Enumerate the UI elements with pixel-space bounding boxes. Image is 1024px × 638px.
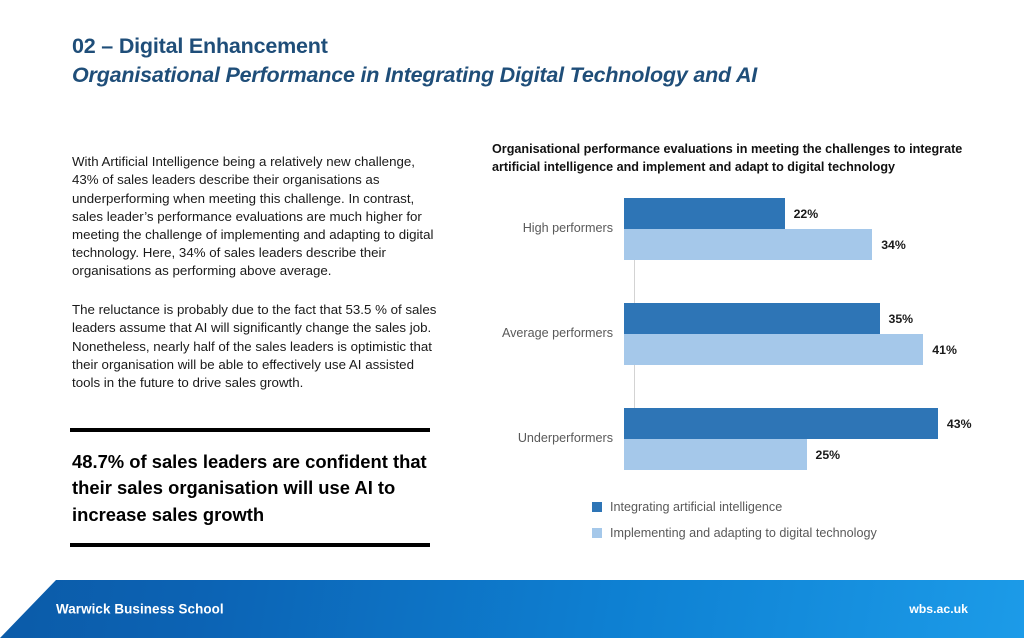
callout-block: 48.7% of sales leaders are confident tha… — [70, 428, 430, 547]
callout-text: 48.7% of sales leaders are confident tha… — [70, 432, 430, 543]
chart-title: Organisational performance evaluations i… — [492, 140, 1007, 176]
slide: 02 – Digital Enhancement Organisational … — [0, 0, 1024, 638]
legend-swatch-icon — [592, 502, 602, 512]
page-title-subtitle: Organisational Performance in Integratin… — [72, 62, 952, 90]
legend-label: Implementing and adapting to digital tec… — [610, 526, 877, 540]
bar-row-integrating-ai: 22% — [624, 198, 818, 229]
chart-group-underperformers: Underperformers 43% 25% — [492, 408, 1012, 470]
slide-footer: Warwick Business School wbs.ac.uk — [0, 580, 1024, 638]
chart-legend: Integrating artificial intelligence Impl… — [592, 494, 877, 546]
bar-series-1-cat-1[interactable] — [624, 334, 923, 365]
legend-swatch-icon — [592, 528, 602, 538]
bar-value-label: 34% — [872, 238, 906, 252]
bar-series-0-cat-1[interactable] — [624, 303, 880, 334]
bar-row-integrating-ai: 35% — [624, 303, 913, 334]
chart-block: Organisational performance evaluations i… — [492, 140, 1012, 478]
body-paragraph-1: With Artificial Intelligence being a rel… — [72, 153, 437, 280]
bar-row-digital-technology: 41% — [624, 334, 957, 365]
footer-brand: Warwick Business School — [56, 602, 224, 617]
legend-item-digital-technology[interactable]: Implementing and adapting to digital tec… — [592, 520, 877, 546]
bar-pair: 43% 25% — [624, 408, 1012, 470]
body-text-column: With Artificial Intelligence being a rel… — [72, 140, 437, 405]
chart-group-high-performers: High performers 22% 34% — [492, 198, 1012, 260]
bar-pair: 22% 34% — [624, 198, 1012, 260]
bar-value-label: 41% — [923, 343, 957, 357]
callout-rule-bottom — [70, 543, 430, 547]
category-label: Underperformers — [492, 431, 624, 446]
bar-row-digital-technology: 34% — [624, 229, 906, 260]
bar-series-1-cat-2[interactable] — [624, 439, 807, 470]
chart-plot-area: High performers 22% 34% Average performe… — [492, 198, 1012, 478]
bar-pair: 35% 41% — [624, 303, 1012, 365]
page-title-section: 02 – Digital Enhancement — [72, 33, 952, 61]
bar-series-0-cat-0[interactable] — [624, 198, 785, 229]
bar-series-0-cat-2[interactable] — [624, 408, 938, 439]
bar-row-digital-technology: 25% — [624, 439, 840, 470]
legend-label: Integrating artificial intelligence — [610, 500, 782, 514]
bar-series-1-cat-0[interactable] — [624, 229, 872, 260]
body-paragraph-2: The reluctance is probably due to the fa… — [72, 301, 437, 392]
category-label: Average performers — [492, 326, 624, 341]
slide-header: 02 – Digital Enhancement Organisational … — [72, 33, 952, 89]
footer-url[interactable]: wbs.ac.uk — [909, 602, 968, 616]
bar-value-label: 35% — [880, 312, 914, 326]
category-label: High performers — [492, 221, 624, 236]
bar-value-label: 22% — [785, 207, 819, 221]
bar-value-label: 43% — [938, 417, 972, 431]
legend-item-integrating-ai[interactable]: Integrating artificial intelligence — [592, 494, 877, 520]
chart-group-average-performers: Average performers 35% 41% — [492, 303, 1012, 365]
bar-value-label: 25% — [807, 448, 841, 462]
bar-row-integrating-ai: 43% — [624, 408, 972, 439]
